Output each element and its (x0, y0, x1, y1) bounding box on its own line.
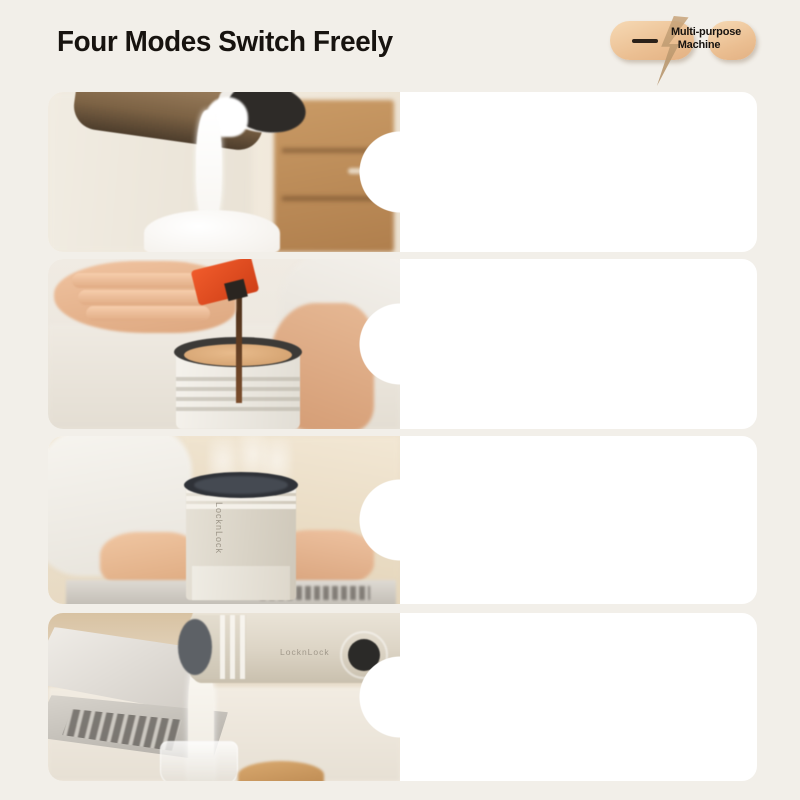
card-photo-froth (48, 92, 400, 252)
mode-card-warm-milk[interactable]: LocknLock Warm Milk Mode Low-speed Stirr… (48, 613, 757, 781)
photo-tumbler-body (192, 566, 290, 600)
steaming-tumbler-on-desk-photo: LocknLock (48, 436, 400, 604)
photo-control-dial (348, 639, 380, 671)
mode-card-boiling[interactable]: LocknLock Boiling Mode High Power Rapid … (48, 436, 757, 604)
product-feature-page: Four Modes Switch Freely Multi-purpose M… (0, 0, 800, 800)
photo-sachet-tip (224, 279, 248, 301)
photo-finger (86, 306, 210, 321)
photo-pour-stream (236, 293, 242, 403)
card-text-stirring: Stirring Mode Stir at Room Temperature w… (400, 259, 757, 429)
card-text-warm-milk: Warm Milk Mode Low-speed Stirring and He… (400, 613, 757, 781)
photo-tumbler-rim-inner (194, 476, 288, 494)
pouring-warm-milk-into-glass-photo: LocknLock (48, 613, 400, 781)
photo-tumbler-mouth (178, 619, 212, 675)
mode-card-stirring[interactable]: Stirring Mode Stir at Room Temperature w… (48, 259, 757, 429)
badge-label-line1: Multi-purpose (654, 26, 758, 39)
badge-label-line2: Machine (654, 39, 758, 52)
photo-tumbler-thread (186, 504, 296, 509)
photo-cabinet-line (282, 196, 386, 201)
card-photo-stirring (48, 259, 400, 429)
page-title: Four Modes Switch Freely (57, 26, 393, 59)
hand-pouring-sachet-into-tumbler-photo (48, 259, 400, 429)
photo-finger (78, 290, 208, 305)
mode-card-froth[interactable]: Froth Mode Froth and Heat to 55°C Instan… (48, 92, 757, 252)
photo-tumbler-thread (220, 615, 225, 679)
photo-tumbler-thread (230, 615, 235, 679)
photo-tumbler-thread (176, 407, 300, 411)
photo-finger (72, 273, 200, 288)
photo-brand-embossing: LocknLock (280, 647, 330, 657)
photo-tumbler-thread (240, 615, 245, 679)
photo-cabinet-line (282, 148, 386, 153)
photo-cabinet-handle (348, 168, 382, 174)
card-text-boiling: Boiling Mode High Power Rapid Boiling Bo… (400, 436, 757, 604)
card-text-froth: Froth Mode Froth and Heat to 55°C Instan… (400, 92, 757, 252)
multi-purpose-machine-badge: Multi-purpose Machine (610, 18, 758, 63)
card-photo-warm-milk: LocknLock (48, 613, 400, 781)
card-photo-boiling: LocknLock (48, 436, 400, 604)
photo-brand-embossing: LocknLock (214, 502, 224, 554)
photo-glass (160, 741, 238, 781)
milk-pouring-into-glass-photo (48, 92, 400, 252)
photo-milk-foam (144, 210, 280, 252)
badge-label: Multi-purpose Machine (654, 26, 758, 51)
